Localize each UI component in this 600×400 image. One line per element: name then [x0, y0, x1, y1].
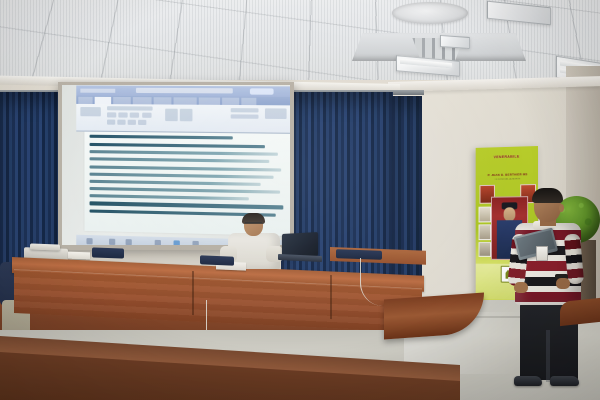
- document-line: [90, 194, 249, 200]
- table-panel-seam: [192, 271, 194, 315]
- ribbon-lineheight-button[interactable]: [138, 120, 146, 125]
- document-line: [90, 158, 270, 164]
- man-hand-left: [514, 282, 528, 293]
- ribbon-replace-button[interactable]: [231, 114, 259, 118]
- ribbon-bullets-button[interactable]: [107, 120, 115, 125]
- man-hand-right: [556, 278, 570, 289]
- ribbon-find-button[interactable]: [231, 108, 259, 112]
- ribbon-style-normal[interactable]: [165, 109, 178, 122]
- ribbon-italic-button[interactable]: [118, 112, 127, 117]
- word-ribbon[interactable]: [76, 104, 290, 134]
- tab-view[interactable]: [241, 98, 256, 105]
- laptop-keyboard-base: [278, 254, 322, 262]
- banner-name: P. JEAN B. BERTHIER MS: [485, 172, 530, 177]
- recessed-light-panel: [440, 35, 470, 49]
- projector-lid: [30, 243, 60, 250]
- ribbon-bold-button[interactable]: [107, 112, 116, 117]
- banner-photo-1: [479, 207, 491, 223]
- ribbon-underline-button[interactable]: [130, 113, 139, 118]
- tab-file[interactable]: [78, 97, 92, 104]
- dark-bag-on-table: [200, 255, 234, 265]
- quick-access-toolbar[interactable]: [80, 89, 115, 93]
- document-line: [90, 180, 262, 186]
- ribbon-numbering-button[interactable]: [117, 120, 125, 125]
- tab-review[interactable]: [222, 98, 239, 105]
- dark-folder: [92, 247, 124, 258]
- search-icon[interactable]: [109, 239, 115, 245]
- ribbon-paste-group[interactable]: [80, 107, 100, 116]
- ribbon-font-color-button[interactable]: [142, 113, 151, 118]
- document-line: [90, 165, 282, 171]
- papers-stack: [68, 252, 90, 260]
- tab-layout[interactable]: [154, 97, 172, 104]
- banner-subtitle: I 6 DONI DELLA MORTE: [487, 178, 528, 181]
- ribbon-font-picker[interactable]: [107, 106, 153, 110]
- banner-photo-3: [479, 242, 491, 257]
- presenter-glasses-icon: [245, 222, 262, 227]
- foreground-table-right: [560, 298, 600, 326]
- document-line: [90, 142, 266, 148]
- document-line: [90, 150, 278, 156]
- word-taskbar-icon[interactable]: [174, 240, 180, 245]
- man-hair: [532, 188, 563, 203]
- start-icon[interactable]: [86, 238, 92, 244]
- table-panel-seam: [330, 275, 332, 319]
- ribbon-style-heading1[interactable]: [180, 109, 193, 122]
- task-view-icon[interactable]: [126, 239, 132, 245]
- file-explorer-icon[interactable]: [155, 240, 161, 245]
- man-ear: [559, 204, 564, 212]
- banner-photo-2: [479, 224, 491, 240]
- man-shoe-right: [550, 376, 579, 386]
- banner-headline: VENERABILE: [476, 154, 538, 161]
- presentation-room-photo: VENERABILE P. JEAN B. BERTHIER MS I 6 DO…: [0, 0, 600, 400]
- man-shoe-left: [514, 376, 542, 386]
- document-line: [90, 172, 274, 178]
- ribbon-select-button[interactable]: [265, 108, 287, 119]
- window-title-text: [136, 88, 233, 94]
- standing-man-with-laptop: [508, 190, 596, 390]
- ceiling-speaker-icon: [392, 2, 468, 24]
- man-leg-separation: [546, 330, 550, 382]
- open-laptop-on-table: [278, 233, 320, 263]
- chrome-icon[interactable]: [192, 241, 198, 245]
- account-button[interactable]: [250, 88, 274, 94]
- document-line: [90, 187, 280, 194]
- document-line: [90, 135, 233, 140]
- ribbon-align-button[interactable]: [128, 120, 136, 125]
- document-line: [90, 202, 284, 210]
- name-badge: [536, 246, 548, 261]
- tab-home[interactable]: [95, 97, 111, 104]
- tab-design[interactable]: [133, 97, 152, 104]
